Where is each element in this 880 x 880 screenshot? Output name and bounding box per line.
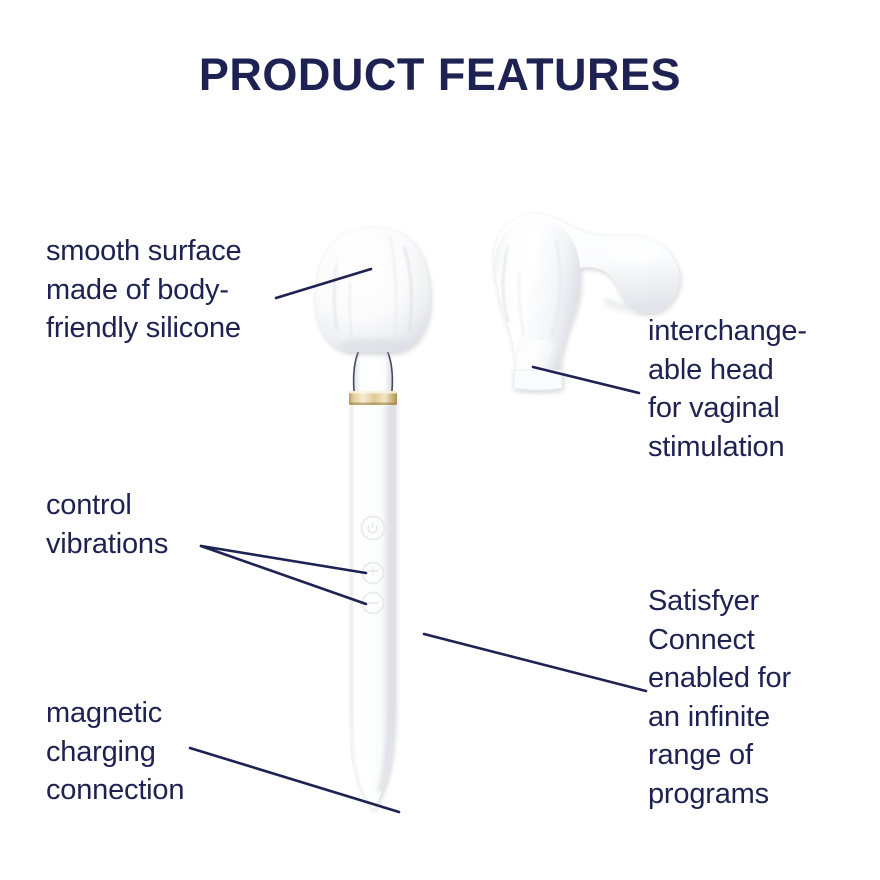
transparent-neck bbox=[354, 348, 393, 391]
callout-smooth-surface: smooth surface made of body- friendly si… bbox=[46, 232, 346, 348]
callout-interchangeable-head: interchange- able head for vaginal stimu… bbox=[648, 312, 878, 466]
callout-control-vibrations: control vibrations bbox=[46, 486, 316, 563]
product-features-infographic: PRODUCT FEATURES bbox=[0, 0, 880, 880]
callout-satisfyer-connect: Satisfyer Connect enabled for an infinit… bbox=[648, 582, 878, 813]
callout-magnetic-charging: magnetic charging connection bbox=[46, 694, 316, 810]
wand-body bbox=[351, 398, 395, 810]
attachment-collar bbox=[514, 370, 562, 390]
gold-ring bbox=[349, 391, 397, 405]
